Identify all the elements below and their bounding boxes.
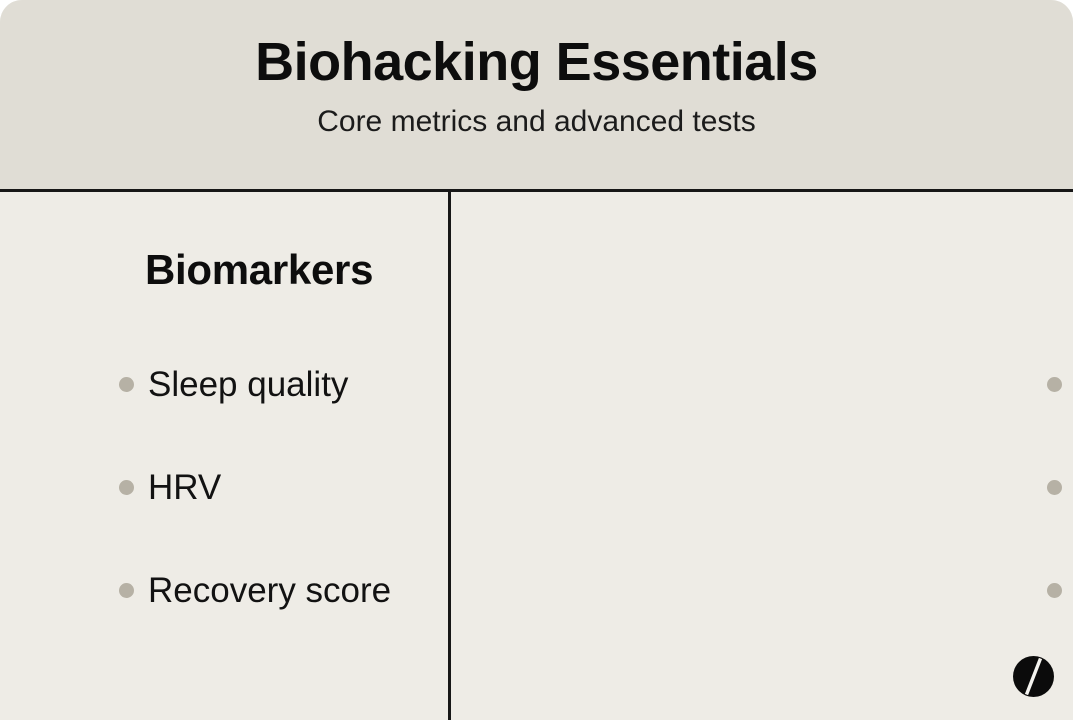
bullet-list-biomarkers: Sleep quality HRV Recovery score xyxy=(145,292,448,642)
bullet-dot-icon xyxy=(119,480,134,495)
card-header: Biohacking Essentials Core metrics and a… xyxy=(0,0,1073,192)
bullet-dot-icon xyxy=(1047,480,1062,495)
bullet-dot-icon xyxy=(1047,583,1062,598)
card-body: Biomarkers Sleep quality HRV Recovery sc… xyxy=(0,192,1073,720)
slide-card: Biohacking Essentials Core metrics and a… xyxy=(0,0,1073,720)
bullet-dot-icon xyxy=(119,377,134,392)
page-subtitle: Core metrics and advanced tests xyxy=(317,91,756,138)
bullet-dot-icon xyxy=(119,583,134,598)
slashed-circle-logo-icon xyxy=(1013,656,1054,697)
list-item: Recovery score xyxy=(145,539,448,642)
list-item: Sleep quality xyxy=(145,333,448,436)
bullet-dot-icon xyxy=(1047,377,1062,392)
list-item-label: HRV xyxy=(148,469,221,508)
page-title: Biohacking Essentials xyxy=(255,0,818,91)
column-advanced-tests: Advanced Tests Hormones Nutrients Stress… xyxy=(448,192,1073,720)
column-heading-biomarkers: Biomarkers xyxy=(145,247,448,292)
list-item-label: Recovery score xyxy=(148,572,391,611)
list-item: HRV xyxy=(145,436,448,539)
column-biomarkers: Biomarkers Sleep quality HRV Recovery sc… xyxy=(0,192,451,720)
list-item-label: Sleep quality xyxy=(148,366,348,405)
